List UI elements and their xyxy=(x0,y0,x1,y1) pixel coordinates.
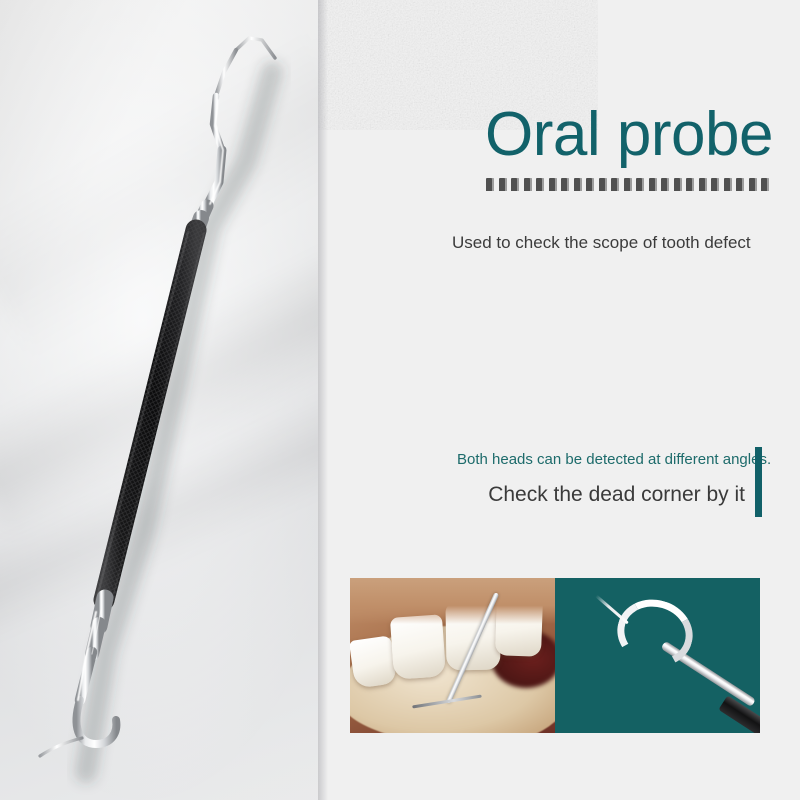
tooth xyxy=(350,635,397,688)
photo-vignette xyxy=(0,0,318,800)
cloth-fold-shadow xyxy=(0,239,318,541)
page-title: Oral probe xyxy=(485,104,773,166)
cloth-fold-shadow xyxy=(0,30,318,360)
gallery-panel xyxy=(350,578,760,733)
product-banner: Oral probe Used to check the scope of to… xyxy=(0,0,800,800)
accent-bar xyxy=(755,447,762,517)
title-decor-strip xyxy=(486,176,769,191)
oral-probe-instrument xyxy=(0,0,318,800)
feature-line-secondary: Check the dead corner by it xyxy=(488,483,745,507)
probe-hook-closeup xyxy=(555,578,760,733)
lip-skin-area xyxy=(350,578,555,624)
product-hero-photo xyxy=(0,0,318,800)
feature-line-primary: Both heads can be detected at different … xyxy=(457,451,771,468)
probe-sharp-point xyxy=(595,595,629,625)
cloth-fold-shadow xyxy=(0,382,318,647)
feature-text-block: Both heads can be detected at different … xyxy=(430,445,770,520)
tooth xyxy=(390,614,446,679)
teeth-inspection-photo xyxy=(350,578,555,733)
wall-left-edge-shadow xyxy=(318,0,328,800)
page-subtitle: Used to check the scope of tooth defect xyxy=(452,233,751,253)
